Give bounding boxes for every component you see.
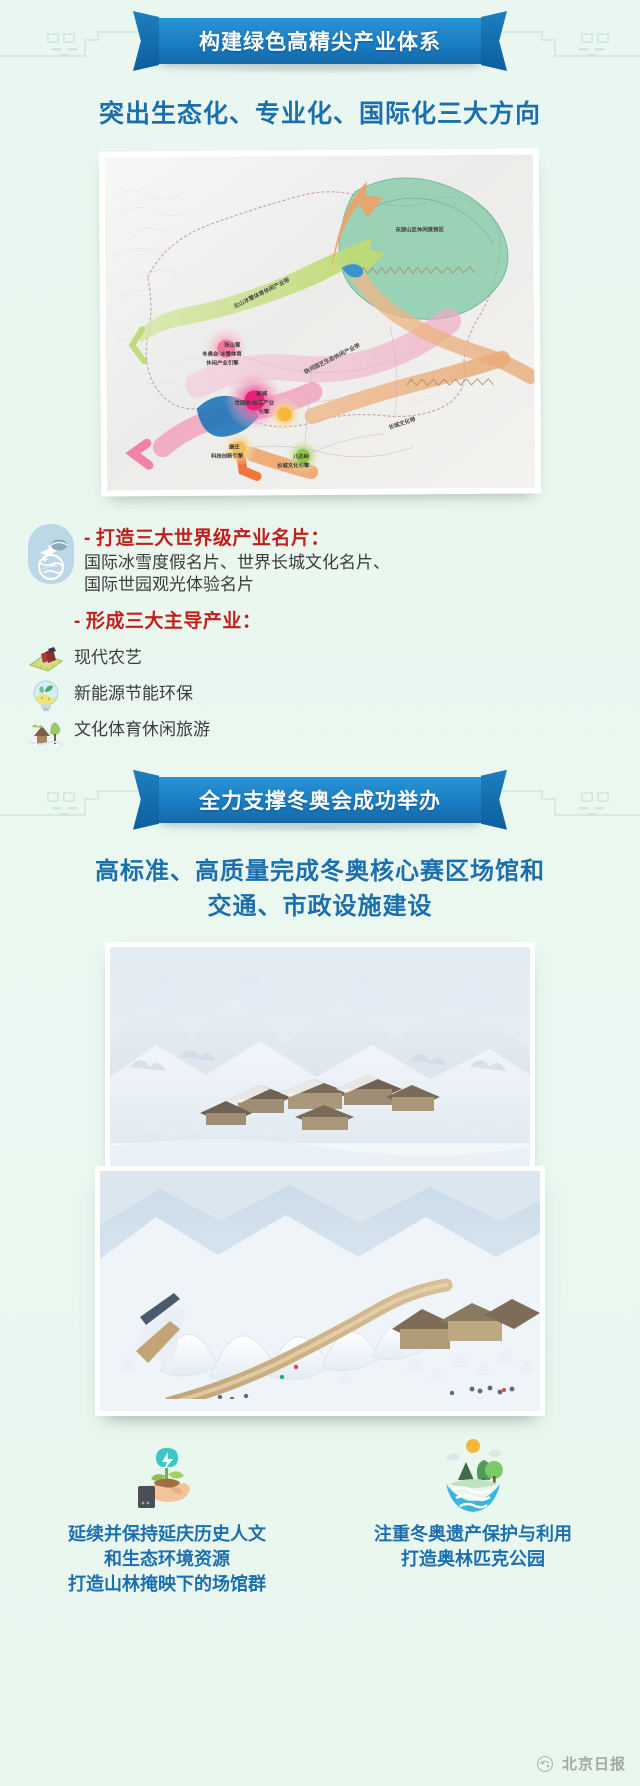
bottom-column-1-line1: 延续并保持延庆历史人文 xyxy=(14,1522,320,1547)
map-engine-zhangshanying-name: 张山营 xyxy=(224,343,240,350)
ribbon-shadow-2 xyxy=(170,823,470,833)
map-engine-kangzhuang-desc1: 科技创新引擎 xyxy=(211,454,243,461)
bullet-cards-head-text: 打造三大世界级产业名片： xyxy=(96,528,330,549)
map-zone-label-east: 东部山区休闲度假区 xyxy=(395,227,444,234)
eco-globe-icon xyxy=(24,677,68,713)
industry-item-3: 文化体育休闲旅游 xyxy=(24,713,616,749)
photo-snow-park xyxy=(100,1171,540,1411)
map-engine-zhangshanying-desc1: 冬奥会·冰雪体育 xyxy=(202,352,242,359)
banner-deco-left-icon-2 xyxy=(0,789,160,819)
ribbon-banner-olympics: 全力支撑冬奥会成功举办 xyxy=(155,777,485,823)
bullet-cards-body-1: 国际冰雪度假名片、世界长城文化名片、 xyxy=(84,552,616,574)
ribbon-banner-industry: 构建绿色高精尖产业体系 xyxy=(155,18,485,64)
village-house-icon xyxy=(24,713,68,749)
industry-item-3-text: 文化体育休闲旅游 xyxy=(74,715,210,740)
bottom-column-2: 注重冬奥遗产保护与利用 打造奥林匹克公园 xyxy=(320,1432,626,1596)
photo-snow-village xyxy=(110,947,530,1167)
bullet-industries-text: -形成三大主导产业： xyxy=(74,604,616,635)
map-engine-zhangshanying-desc2: 休闲产业引擎 xyxy=(206,361,238,368)
planning-map: 东部山区休闲度假区 北山冰雪体育休闲产业带 妫河园艺生态休闲产业带 长城文化带 … xyxy=(105,155,535,491)
bullet-industries-row: -形成三大主导产业： xyxy=(24,604,616,635)
infographic-page: 构建绿色高精尖产业体系 突出生态化、专业化、国际化三大方向 xyxy=(0,12,640,1786)
section-heading-1: 突出生态化、专业化、国际化三大方向 xyxy=(20,96,620,132)
industry-label-3: 文化体育休闲旅游 xyxy=(74,715,210,740)
bullet-dash-2: - xyxy=(74,611,81,632)
bullet-dash: - xyxy=(84,528,91,549)
map-graphic xyxy=(105,155,535,491)
bottom-column-1-line2: 和生态环境资源 xyxy=(14,1547,320,1572)
bullet-cards-row: -打造三大世界级产业名片： 国际冰雪度假名片、世界长城文化名片、 国际世园观光体… xyxy=(24,521,616,596)
hand-sprout-energy-icon xyxy=(14,1432,320,1518)
map-engine-kangzhuang-name: 康庄 xyxy=(229,445,240,452)
section-heading-2-line1: 高标准、高质量完成冬奥核心赛区场馆和 xyxy=(20,855,620,890)
industry-item-1: 现代农艺 xyxy=(24,641,616,677)
eco-island-icon xyxy=(320,1432,626,1518)
bullet-industries-spacer xyxy=(24,604,68,632)
section-banner-2: 全力支撑冬奥会成功举办 xyxy=(0,771,640,833)
bullet-industries-head-text: 形成三大主导产业： xyxy=(86,611,262,632)
ribbon-title-text: 构建绿色高精尖产业体系 xyxy=(199,26,441,56)
bullet-cards-head: -打造三大世界级产业名片： xyxy=(84,523,616,550)
bottom-column-2-line1: 注重冬奥遗产保护与利用 xyxy=(320,1522,626,1547)
map-engine-newcity-desc1: 世园会·园艺产业 xyxy=(235,401,275,408)
beijing-daily-logo-icon xyxy=(535,1755,557,1773)
map-engine-newcity-name: 新城 xyxy=(256,392,267,399)
bottom-columns: 延续并保持延庆历史人文 和生态环境资源 打造山林掩映下的场馆群 xyxy=(0,1432,640,1596)
industry-label-1: 现代农艺 xyxy=(74,643,142,668)
industry-item-2: 新能源节能环保 xyxy=(24,677,616,713)
industry-item-1-text: 现代农艺 xyxy=(74,643,142,668)
bottom-column-1-line3: 打造山林掩映下的场馆群 xyxy=(14,1572,320,1597)
industry-item-2-text: 新能源节能环保 xyxy=(74,679,193,704)
banner-deco-left-icon xyxy=(0,30,160,60)
bottom-column-1: 延续并保持延庆历史人文 和生态环境资源 打造山林掩映下的场馆群 xyxy=(14,1432,320,1596)
section-heading-2-line2: 交通、市政设施建设 xyxy=(20,890,620,925)
section-banner-1: 构建绿色高精尖产业体系 xyxy=(0,12,640,74)
photo-card-venues xyxy=(105,942,535,1172)
banner-deco-right-icon xyxy=(480,30,640,60)
map-engine-badaling-name: 八达岭 xyxy=(293,454,309,461)
bullet-list: -打造三大世界级产业名片： 国际冰雪度假名片、世界长城文化名片、 国际世园观光体… xyxy=(0,521,640,749)
industry-label-2: 新能源节能环保 xyxy=(74,679,193,704)
ribbon-title-text-2: 全力支撑冬奥会成功举办 xyxy=(199,785,441,815)
map-engine-newcity-desc2: 引擎 xyxy=(259,410,270,417)
watermark-text: 北京日报 xyxy=(562,1753,626,1774)
bullet-industries-head: -形成三大主导产业： xyxy=(74,606,616,633)
photo-card-park xyxy=(95,1166,545,1416)
airplane-globe-icon xyxy=(24,521,78,587)
ribbon-shadow xyxy=(170,64,470,74)
banner-deco-right-icon-2 xyxy=(480,789,640,819)
bullet-cards-body-2: 国际世园观光体验名片 xyxy=(84,574,616,596)
map-card: 东部山区休闲度假区 北山冰雪体育休闲产业带 妫河园艺生态休闲产业带 长城文化带 … xyxy=(99,149,541,497)
bullet-cards-text: -打造三大世界级产业名片： 国际冰雪度假名片、世界长城文化名片、 国际世园观光体… xyxy=(84,521,616,596)
watermark: 北京日报 xyxy=(535,1753,626,1774)
map-engine-badaling-desc1: 长城文化引擎 xyxy=(277,463,309,470)
bottom-column-2-line2: 打造奥林匹克公园 xyxy=(320,1547,626,1572)
farm-field-icon xyxy=(24,641,68,677)
